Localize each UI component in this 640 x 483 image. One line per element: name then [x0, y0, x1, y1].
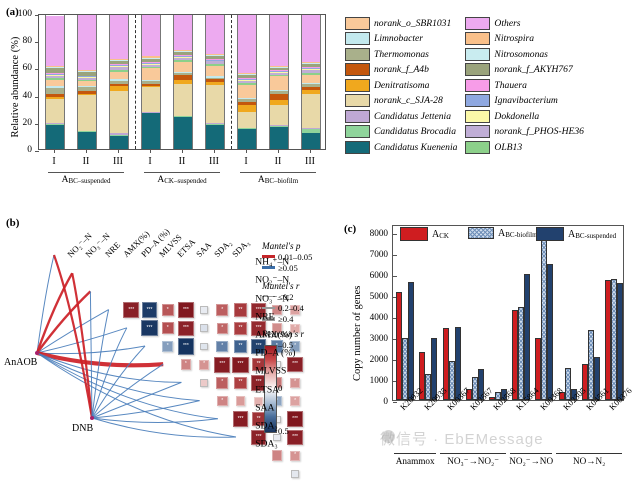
correlation-cell: ***	[177, 319, 195, 337]
mantel-link	[92, 418, 218, 422]
legend-label: Candidatus Brocadia	[374, 126, 456, 137]
correlation-cell: *	[286, 392, 304, 410]
panel-a-bar-segment	[270, 127, 288, 149]
panel-c-group-underline	[510, 453, 552, 454]
significance-stars: **	[239, 326, 243, 331]
panel-c-y-tick: 3000	[358, 333, 388, 343]
panel-a-bar-segment	[270, 76, 288, 89]
panel-a-x-tick	[118, 150, 119, 153]
matrix-row-label: ETSA	[255, 384, 279, 395]
legend-item: norank_c_SJA-28	[345, 93, 457, 107]
correlation-square: ***	[287, 411, 303, 427]
significance-stars: *	[221, 344, 223, 349]
mantel-link	[92, 364, 163, 418]
legend-label: norank_c_SJA-28	[374, 95, 443, 106]
watermark-text: 微信号 · EbEMessage	[380, 428, 544, 449]
panel-c-legend-swatch	[468, 227, 494, 239]
panel-a-bar-segment	[46, 80, 64, 87]
panel-a-x-label: I	[39, 156, 69, 167]
panel-c-bar-group	[605, 224, 623, 400]
panel-a-bar-segment	[270, 105, 288, 126]
legend-column-2: OthersNitrospiraNitrosomonasnorank_f_AKY…	[465, 16, 584, 154]
panel-c-plot-area	[392, 225, 624, 401]
panel-c-y-tick: 0	[358, 396, 388, 406]
correlation-square	[272, 450, 283, 461]
legend-label: norank_f_AKYH767	[494, 64, 572, 75]
significance-stars: *	[294, 380, 296, 385]
panel-a-x-tick	[278, 150, 279, 153]
correlation-cell: ***	[177, 337, 195, 355]
correlation-square: ***	[287, 430, 303, 446]
panel-a-bar-segment	[206, 66, 224, 77]
correlation-square	[200, 343, 208, 351]
panel-a-bar-segment	[238, 15, 256, 73]
panel-c-y-tick: 5000	[358, 291, 388, 301]
significance-stars: ***	[128, 308, 134, 313]
correlation-square: ***	[178, 321, 193, 336]
correlation-cell: *	[213, 337, 231, 355]
panel-a-group-underline	[240, 172, 316, 173]
correlation-square: ***	[178, 302, 194, 318]
legend-label: Candidatus Jettenia	[374, 111, 451, 122]
panel-a-y-tick: 80	[6, 36, 32, 46]
panel-a-bar-segment	[238, 112, 256, 128]
legend-item: Denitratisoma	[345, 78, 457, 92]
panel-a-bar-segment	[110, 15, 128, 59]
correlation-cell: **	[231, 301, 249, 319]
correlation-square: ***	[123, 302, 139, 318]
panel-a-stacked-bar-column	[109, 15, 129, 149]
panel-c-bar-group	[466, 224, 484, 400]
panel-a-bar-segment	[302, 75, 320, 83]
correlation-cell: **	[231, 374, 249, 392]
panel-c-group-label: NO→N₂	[573, 456, 605, 466]
correlation-cell: *	[159, 337, 177, 355]
panel-a-stacked-bar-column	[77, 15, 97, 149]
panel-a-y-tick: 60	[6, 63, 32, 73]
legend-swatch	[465, 125, 490, 138]
panel-a-bar-segment	[238, 85, 256, 98]
panel-c-bar-group	[396, 224, 414, 400]
correlation-square: ***	[214, 357, 230, 373]
panel-c-y-tick: 7000	[358, 249, 388, 259]
legend-label: Nitrospira	[494, 33, 534, 44]
panel-c-y-tick: 1000	[358, 375, 388, 385]
legend-item: Ignavibacterium	[465, 93, 584, 107]
correlation-cell: ***	[140, 319, 158, 337]
panel-b-tag: (b)	[6, 217, 19, 229]
correlation-cell: *	[159, 319, 177, 337]
panel-a-stacked-bar-column	[205, 15, 225, 149]
panel-a-x-tick	[182, 150, 183, 153]
panel-a-legend: norank_o_SBR1031LimnobacterThermomonasno…	[345, 16, 640, 154]
legend-label: norank_f_PHOS-HE36	[494, 126, 584, 137]
legend-item: Thauera	[465, 78, 584, 92]
legend-item: Limnobacter	[345, 31, 457, 45]
panel-a-stacked-bar-column	[301, 15, 321, 149]
panel-a-bar-segment	[302, 94, 320, 128]
colorbar-tick: 0.5	[278, 426, 289, 436]
panel-a-bar-segment	[302, 15, 320, 62]
significance-stars: ***	[147, 326, 153, 331]
legend-swatch	[345, 94, 370, 107]
correlation-square: ***	[232, 357, 248, 373]
legend-label: Nitrosomonas	[494, 49, 548, 60]
correlation-square: ***	[233, 411, 249, 427]
mantel-link	[37, 353, 163, 365]
correlation-cell: *	[159, 301, 177, 319]
legend-swatch	[465, 79, 490, 92]
panel-a-bar-segment	[142, 87, 160, 111]
panel-c-bar-group	[489, 224, 507, 400]
panel-a-group-divider	[135, 15, 136, 149]
legend-label: norank_f_A4b	[374, 64, 429, 75]
panel-c-bar	[524, 274, 530, 400]
correlation-cell	[286, 465, 304, 483]
panel-c-bar	[547, 264, 553, 400]
panel-c-y-tick: 8000	[358, 228, 388, 238]
matrix-row-label: MLVSS	[255, 366, 286, 377]
panel-c-group-label: NO₃⁻→NO₂⁻	[447, 456, 499, 467]
legend-swatch	[465, 94, 490, 107]
panel-a-stacked-bar-column	[45, 15, 65, 149]
panel-c-legend-item: ABC-biofilm	[468, 227, 538, 239]
panel-a-bar-segment	[270, 15, 288, 66]
mantel-link	[92, 346, 145, 418]
legend-label: norank_o_SBR1031	[374, 18, 451, 29]
significance-stars: *	[167, 344, 169, 349]
panel-a-x-label: III	[295, 156, 325, 167]
panel-a-x-tick	[214, 150, 215, 153]
panel-a-bar-segment	[142, 15, 160, 56]
panel-a-bar-segment	[78, 132, 96, 149]
panel-a-y-tick: 0	[6, 145, 32, 155]
correlation-cell: *	[286, 447, 304, 465]
panel-a-bar-segment	[270, 94, 288, 101]
panel-c-legend-swatch	[400, 227, 428, 241]
correlation-square: **	[234, 303, 247, 316]
panel-a-bar-segment	[46, 125, 64, 149]
legend-item: Candidatus Jettenia	[345, 109, 457, 123]
panel-a-bar-segment	[174, 117, 192, 149]
panel-c-group-label: Anammox	[396, 456, 435, 466]
correlation-square	[200, 306, 208, 314]
mantel-link	[37, 346, 145, 354]
significance-stars: ***	[183, 326, 189, 331]
panel-a-group-name: ABC–suspended	[62, 175, 111, 185]
panel-a-y-tick: 40	[6, 91, 32, 101]
panel-a-y-tick-mark	[35, 151, 39, 152]
matrix-column-label: SDA₃	[230, 238, 251, 259]
correlation-cell: **	[231, 337, 249, 355]
legend-item: Dokdonella	[465, 109, 584, 123]
panel-a-bar-segment	[46, 99, 64, 123]
panel-a-y-tick: 100	[6, 9, 32, 19]
legend-swatch	[345, 17, 370, 30]
panel-c-y-tick-mark	[393, 402, 397, 403]
legend-item: norank_f_AKYH767	[465, 62, 584, 76]
legend-swatch	[465, 17, 490, 30]
legend-label: Thauera	[494, 80, 527, 91]
legend-item: Nitrosomonas	[465, 47, 584, 61]
node-label-dnb: DNB	[72, 423, 93, 434]
panel-a-group-name: ABC–biofilm	[258, 175, 298, 185]
mantel-link	[37, 353, 200, 401]
panel-a-stacked-bar-column	[173, 15, 193, 149]
matrix-row-label: PD–A (%)	[255, 348, 295, 359]
panel-c-y-tick: 6000	[358, 270, 388, 280]
correlation-cell	[195, 374, 213, 392]
legend-swatch	[465, 48, 490, 61]
panel-a-bar-segment	[206, 125, 224, 149]
correlation-square: *	[216, 304, 228, 316]
panel-a-x-tick	[54, 150, 55, 153]
panel-a-stacked-bar-column	[237, 15, 257, 149]
panel-a-group-divider	[231, 15, 232, 149]
correlation-square: ***	[287, 357, 303, 373]
panel-a-x-tick	[150, 150, 151, 153]
correlation-square: *	[217, 396, 228, 407]
significance-stars: ***	[219, 362, 225, 367]
panel-c-legend-item: ABC-suspended	[536, 227, 616, 241]
panel-a-x-label: III	[103, 156, 133, 167]
panel-a-group-underline	[48, 172, 124, 173]
significance-stars: ***	[147, 308, 153, 313]
correlation-cell: ***	[213, 356, 231, 374]
panel-a-x-label: I	[231, 156, 261, 167]
mantel-link	[37, 291, 90, 353]
legend-label: Denitratisoma	[374, 80, 429, 91]
legend-item: Candidatus Kuenenia	[345, 140, 457, 154]
correlation-cell	[195, 301, 213, 319]
panel-a-plot-area	[38, 14, 326, 150]
correlation-square: ***	[178, 338, 194, 354]
panel-a-group	[231, 15, 327, 149]
mantel-link	[37, 353, 181, 382]
correlation-square: *	[290, 396, 300, 406]
legend-item: norank_o_SBR1031	[345, 16, 457, 30]
legend-swatch	[345, 48, 370, 61]
panel-a-bar-segment	[174, 84, 192, 115]
panel-c-bar	[617, 283, 623, 400]
legend-item: Thermomonas	[345, 47, 457, 61]
legend-swatch	[345, 63, 370, 76]
significance-stars: ***	[292, 435, 298, 440]
panel-a-bar-segment	[46, 16, 64, 66]
correlation-square	[291, 470, 299, 478]
legend-swatch	[465, 141, 490, 154]
matrix-row-label: SAA	[255, 402, 274, 413]
correlation-square: **	[234, 340, 247, 353]
significance-stars: ***	[238, 417, 244, 422]
significance-stars: ***	[238, 362, 244, 367]
legend-column-1: norank_o_SBR1031LimnobacterThermomonasno…	[345, 16, 457, 154]
panel-a-x-tick	[310, 150, 311, 153]
panel-a-bar-segment	[142, 113, 160, 149]
significance-stars: ***	[292, 417, 298, 422]
significance-stars: *	[185, 362, 187, 367]
significance-stars: *	[167, 308, 169, 313]
panel-a-x-tick	[86, 150, 87, 153]
correlation-square	[200, 324, 208, 332]
panel-a-stacked-bar-column	[141, 15, 161, 149]
legend-label: Candidatus Kuenenia	[374, 142, 457, 153]
node-label-anaob: AnAOB	[4, 357, 37, 368]
panel-c-y-tick: 4000	[358, 312, 388, 322]
panel-c-group-underline	[556, 453, 622, 454]
mantel-r-label: ≥0.4	[278, 314, 293, 324]
panel-a-bar-segment	[238, 129, 256, 149]
panel-a-bar-segment	[206, 15, 224, 54]
panel-c-y-tick: 2000	[358, 354, 388, 364]
correlation-cell: *	[213, 301, 231, 319]
mantel-r-label: 0.2–0.4	[278, 303, 304, 313]
mantel-link	[72, 273, 92, 418]
matrix-row-label: AMX(%)	[255, 329, 292, 340]
panel-c-legend-swatch	[536, 227, 564, 241]
legend-label: Ignavibacterium	[494, 95, 557, 106]
significance-stars: *	[203, 362, 205, 367]
legend-item: Others	[465, 16, 584, 30]
mantel-link	[54, 255, 92, 418]
panel-c-legend-label: ABC-suspended	[568, 229, 616, 240]
legend-swatch	[465, 32, 490, 45]
correlation-square: *	[181, 359, 192, 370]
panel-a-x-label: II	[167, 156, 197, 167]
legend-label: Thermomonas	[374, 49, 429, 60]
significance-stars: *	[167, 326, 169, 331]
panel-c-bar-group	[443, 224, 461, 400]
significance-stars: *	[294, 453, 296, 458]
panel-a-bar-segment	[78, 95, 96, 131]
panel-b-correlation-mantel: (b) ************************************…	[0, 205, 340, 480]
panel-a-stacked-bar: (a) Relative abundance (%) 020406080100I…	[0, 0, 340, 205]
matrix-row-label: NO₂⁻–N	[255, 275, 289, 286]
panel-a-group-underline	[144, 172, 220, 173]
panel-a-y-tick: 20	[6, 118, 32, 128]
correlation-square: **	[234, 322, 247, 335]
mantel-link	[92, 401, 200, 418]
mantel-link	[37, 255, 54, 353]
panel-c-legend-item: ACK	[400, 227, 449, 241]
significance-stars: ***	[183, 308, 189, 313]
significance-stars: **	[239, 344, 243, 349]
panel-c-bar	[408, 282, 414, 400]
correlation-cell: *	[177, 356, 195, 374]
legend-item: norank_f_A4b	[345, 62, 457, 76]
significance-stars: **	[239, 380, 243, 385]
correlation-square: ***	[141, 320, 157, 336]
legend-label: Dokdonella	[494, 111, 539, 122]
panel-c-bar-group	[535, 224, 553, 400]
correlation-square: *	[162, 322, 174, 334]
mantel-link	[90, 291, 92, 418]
panel-a-bar-segment	[78, 15, 96, 70]
correlation-cell: *	[213, 319, 231, 337]
panel-c-legend-label: ACK	[432, 229, 449, 240]
panel-c-bar-group	[559, 224, 577, 400]
panel-a-x-label: I	[135, 156, 165, 167]
correlation-cell	[231, 392, 249, 410]
mantel-p-title: Mantel's p	[262, 241, 312, 251]
legend-label: Limnobacter	[374, 33, 423, 44]
correlation-cell: *	[213, 374, 231, 392]
panel-a-x-label: II	[71, 156, 101, 167]
correlation-cell: ***	[140, 301, 158, 319]
panel-c-bar-group	[512, 224, 530, 400]
significance-stars: *	[221, 326, 223, 331]
mantel-link	[92, 328, 127, 418]
correlation-cell: **	[231, 319, 249, 337]
correlation-square: *	[216, 341, 228, 353]
matrix-column-label: SDA₂	[212, 238, 233, 259]
correlation-cell: ***	[231, 356, 249, 374]
correlation-cell	[195, 337, 213, 355]
significance-stars: *	[221, 399, 223, 404]
correlation-cell: ***	[231, 410, 249, 428]
matrix-row-label: NH₄⁺–N	[255, 257, 289, 268]
legend-item: Candidatus Brocadia	[345, 124, 457, 138]
panel-a-bar-segment	[206, 85, 224, 123]
correlation-square: *	[199, 360, 209, 370]
legend-item: Nitrospira	[465, 31, 584, 45]
mantel-link	[92, 382, 181, 418]
correlation-cell: ***	[122, 301, 140, 319]
significance-stars: ***	[292, 362, 298, 367]
network-node	[90, 416, 94, 420]
correlation-cell	[195, 319, 213, 337]
matrix-row-label: NO₃⁻–N	[255, 293, 289, 304]
legend-item: norank_f_PHOS-HE36	[465, 124, 584, 138]
matrix-row-label: SDA₃	[255, 439, 278, 450]
panel-c-legend-label: ABC-biofilm	[498, 228, 538, 239]
panel-c-group-underline	[440, 453, 506, 454]
correlation-square: *	[217, 323, 229, 335]
correlation-cell: *	[286, 374, 304, 392]
panel-a-group	[39, 15, 135, 149]
correlation-square: ***	[142, 302, 158, 318]
panel-a-bar-segment	[174, 15, 192, 50]
panel-c-bar-group	[419, 224, 437, 400]
legend-swatch	[465, 63, 490, 76]
correlation-square: *	[162, 341, 173, 352]
legend-swatch	[465, 110, 490, 123]
correlation-square: **	[234, 377, 247, 390]
correlation-cell: ***	[177, 301, 195, 319]
correlation-square	[200, 379, 208, 387]
legend-swatch	[345, 79, 370, 92]
legend-swatch	[345, 125, 370, 138]
correlation-cell: *	[195, 356, 213, 374]
panel-a-group-name: ACK–suspended	[157, 175, 206, 185]
panel-c-group-label: NO₂⁻→NO	[509, 456, 553, 467]
panel-a-stacked-bar-column	[269, 15, 289, 149]
correlation-cell: *	[213, 392, 231, 410]
panel-a-bar-segment	[238, 105, 256, 113]
panel-a-bar-segment	[110, 91, 128, 133]
panel-a-group	[135, 15, 231, 149]
mantel-link	[37, 273, 72, 353]
panel-c-group-underline	[394, 453, 436, 454]
mantel-link	[92, 310, 109, 418]
panel-c-bar-group	[582, 224, 600, 400]
significance-stars: *	[221, 380, 223, 385]
legend-item: OLB13	[465, 140, 584, 154]
matrix-row-label: NRE	[255, 311, 274, 322]
mantel-link	[92, 418, 236, 437]
mantel-r-swatch	[262, 307, 275, 309]
panel-a-x-label: III	[199, 156, 229, 167]
